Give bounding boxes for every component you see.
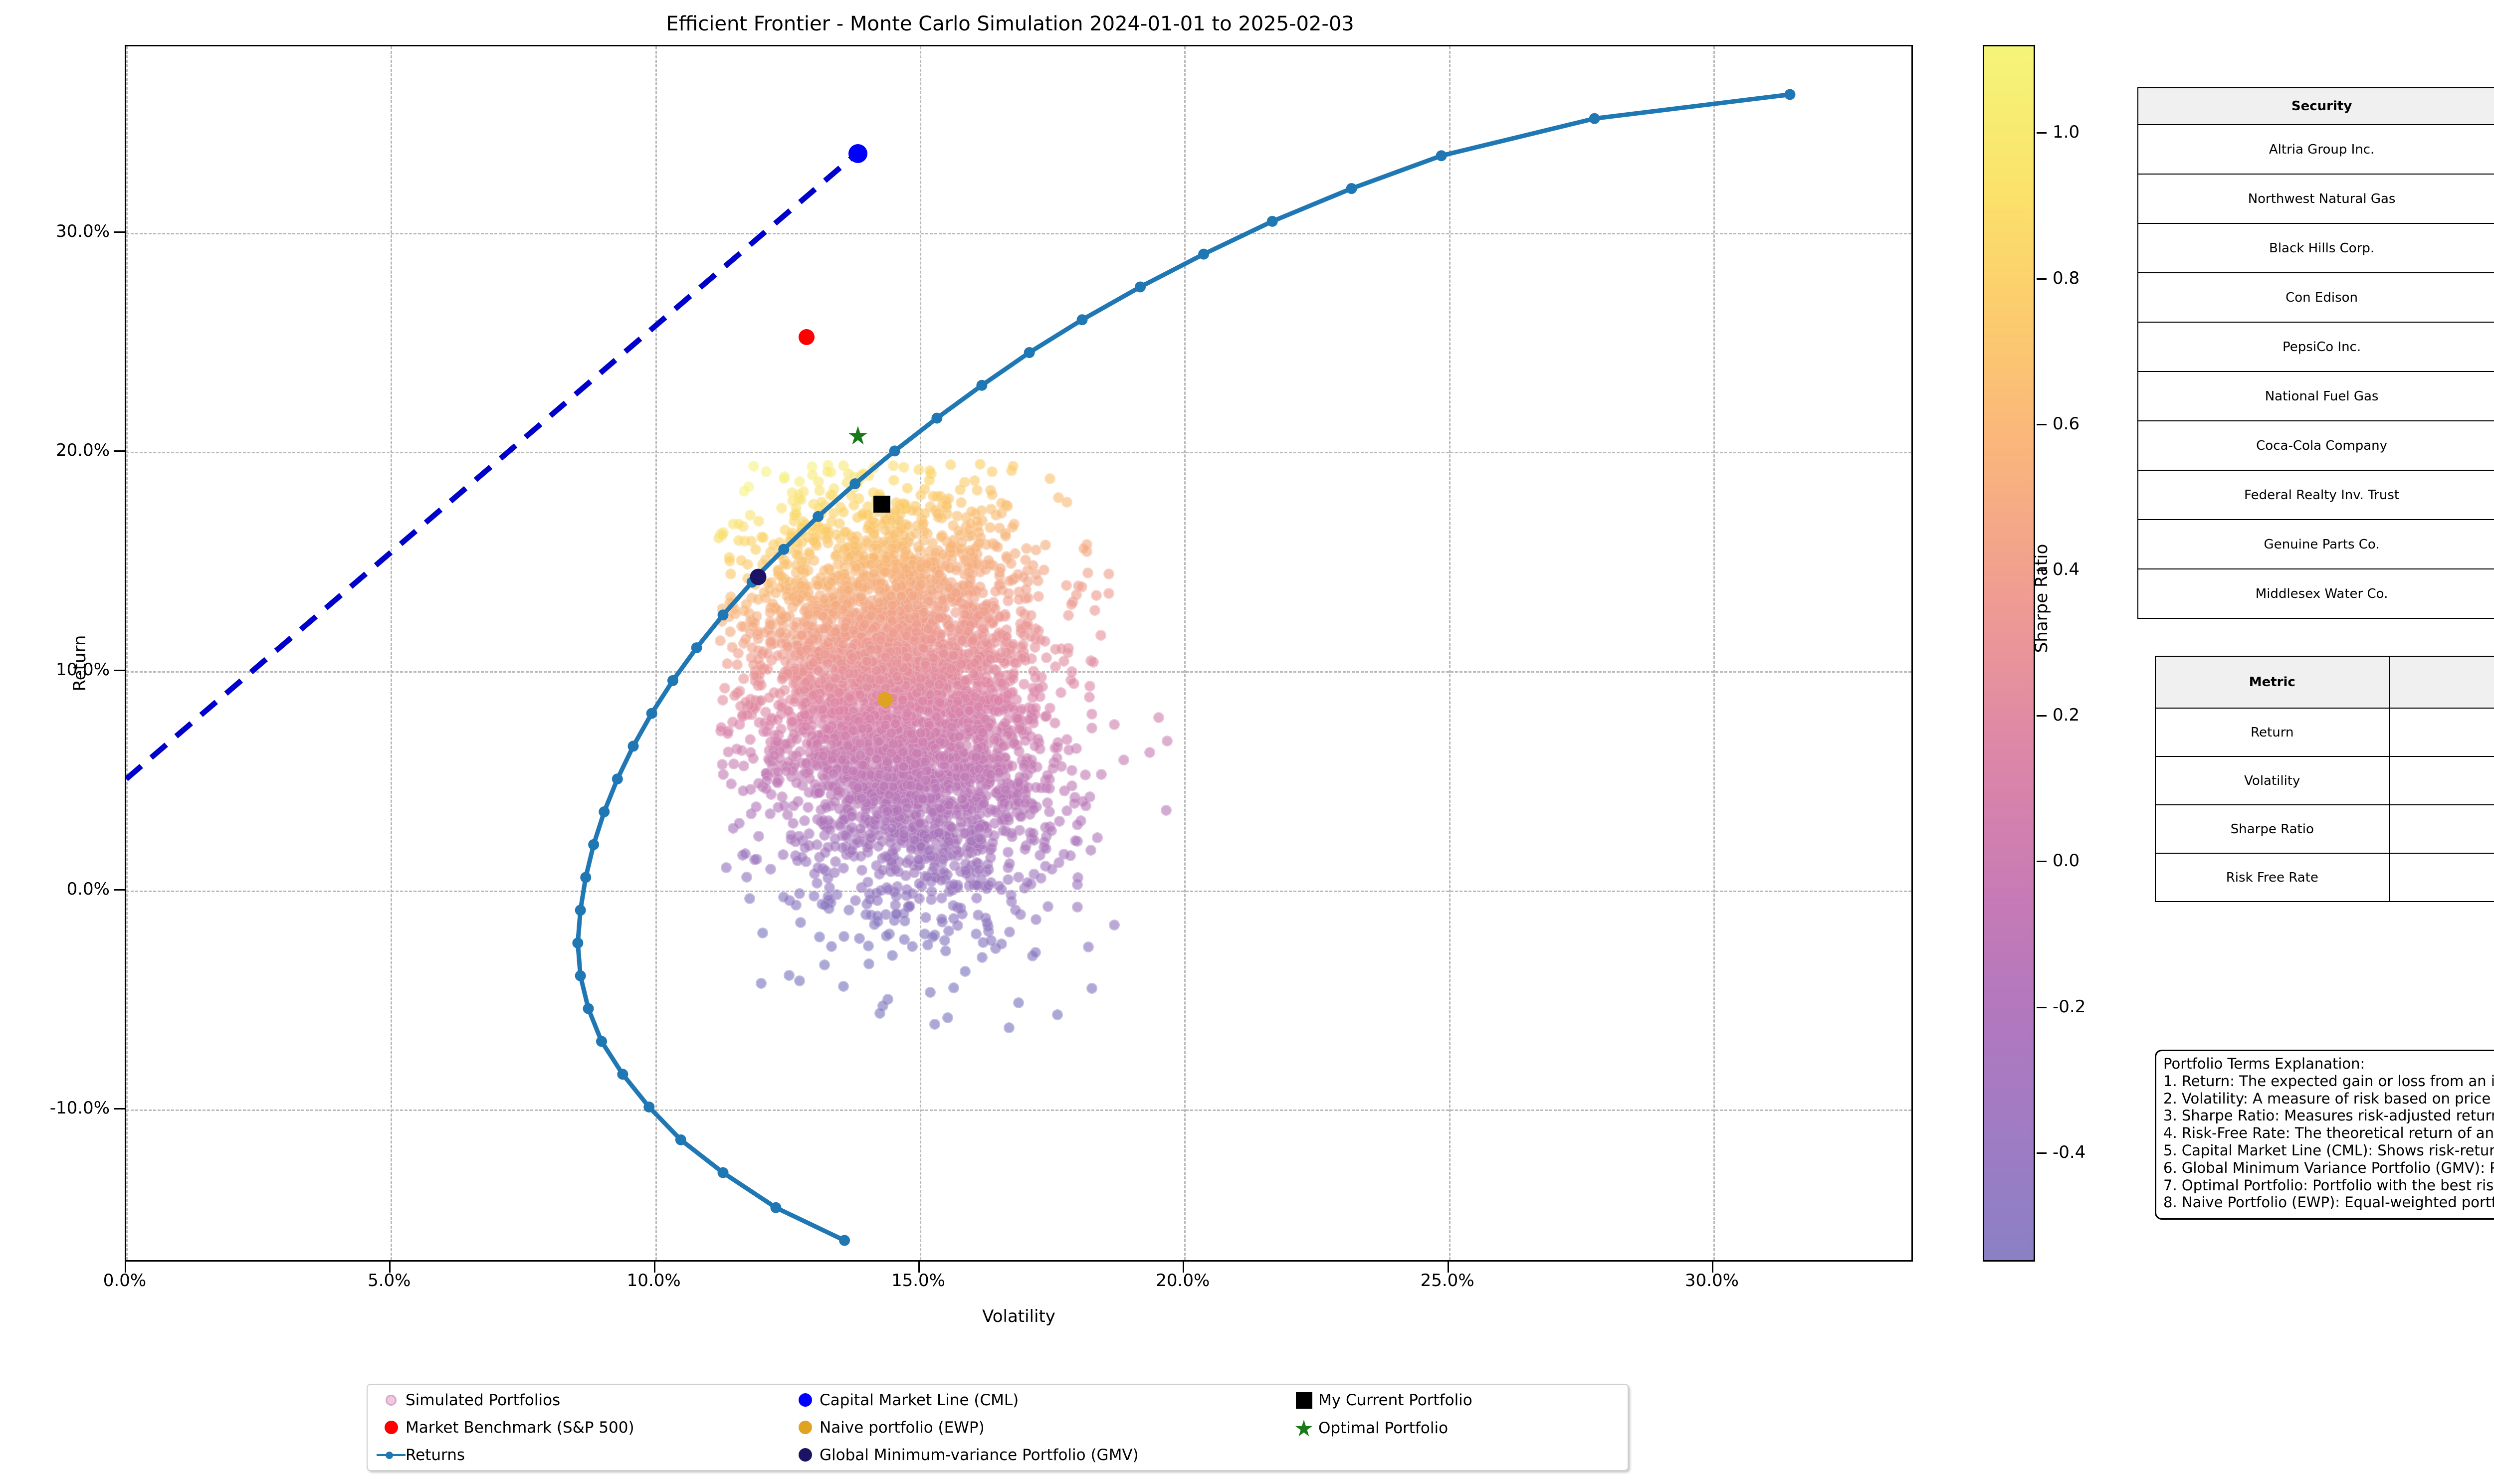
y-axis-tick-mark — [114, 450, 125, 452]
efficient-frontier-point — [1135, 281, 1146, 292]
chart-marker-optimal-portfolio — [848, 425, 868, 447]
terms-line: 3. Sharpe Ratio: Measures risk-adjusted … — [2163, 1107, 2494, 1124]
marker-circle-icon — [878, 692, 893, 707]
efficient-frontier-point — [575, 905, 586, 916]
y-axis-tick-label: 30.0% — [0, 221, 110, 241]
efficient-frontier-point — [667, 675, 678, 686]
portfolio-weights-table-wrap: SecurityCurrentPortfolio WeightsOptimalP… — [2137, 87, 2494, 619]
chart-marker-capital-market-line-cml — [848, 144, 867, 163]
table-column-header: Security — [2138, 88, 2494, 125]
table-row-label: Risk Free Rate — [2155, 853, 2389, 902]
legend-circle-icon — [377, 1395, 406, 1406]
colorbar-tick-mark — [2037, 424, 2047, 425]
efficient-frontier-point — [1024, 347, 1035, 358]
table-column-header: My CurrentPortfolio — [2389, 656, 2494, 708]
legend-square-icon — [1289, 1392, 1318, 1409]
y-axis-tick-label: 10.0% — [0, 660, 110, 680]
terms-line: 7. Optimal Portfolio: Portfolio with the… — [2163, 1177, 2494, 1194]
weights-table-row: Middlesex Water Co.5.00%1.92%9.13%0.00% — [2138, 569, 2494, 618]
efficient-frontier-point — [931, 413, 942, 424]
terms-line: 8. Naive Portfolio (EWP): Equal-weighted… — [2163, 1194, 2494, 1211]
table-row-label: PepsiCo Inc. — [2138, 322, 2494, 371]
legend-item-label: Global Minimum-variance Portfolio (GMV) — [820, 1446, 1139, 1464]
metrics-table-header-row: MetricMy CurrentPortfolioOptimizedOptimi… — [2155, 656, 2494, 708]
y-axis-tick-mark — [114, 670, 125, 671]
legend-item-label: Capital Market Line (CML) — [820, 1391, 1019, 1409]
legend-item[interactable]: Global Minimum-variance Portfolio (GMV) — [791, 1445, 1289, 1465]
efficient-frontier-point — [770, 1202, 781, 1213]
metrics-table-row: Sharpe Ratio0.881.141.57 — [2155, 805, 2494, 853]
efficient-frontier-point — [849, 478, 860, 489]
metrics-table-body: Return17.61%20.72%25.24%Volatility14.28%… — [2155, 708, 2494, 902]
chart-marker-naive-portfolio-ewp — [878, 692, 893, 707]
efficient-frontier-chart-panel: Efficient Frontier - Monte Carlo Simulat… — [0, 0, 1975, 1484]
table-row-label: Coca-Cola Company — [2138, 421, 2494, 470]
plot-area — [125, 45, 1913, 1262]
x-axis-tick-mark — [918, 1262, 920, 1273]
colorbar-tick-mark — [2037, 715, 2047, 717]
table-cell-value: 14.28% — [2389, 756, 2494, 805]
y-axis-tick-mark — [114, 231, 125, 233]
colorbar-title: Sharpe Ratio — [2032, 509, 2052, 688]
marker-square-icon — [873, 496, 890, 513]
terms-line: 4. Risk-Free Rate: The theoretical retur… — [2163, 1124, 2494, 1142]
table-row-label: Northwest Natural Gas — [2138, 174, 2494, 223]
legend-column-2: Capital Market Line (CML)Naive portfolio… — [791, 1390, 1289, 1465]
portfolio-metrics-table: MetricMy CurrentPortfolioOptimizedOptimi… — [2155, 656, 2494, 902]
efficient-frontier-point — [839, 1235, 850, 1246]
legend-item[interactable]: My Current Portfolio — [1289, 1390, 1609, 1411]
weights-table-row: PepsiCo Inc.9.00%6.20%42.81%0.00% — [2138, 322, 2494, 371]
efficient-frontier-point — [1436, 150, 1447, 161]
efficient-frontier-point — [1267, 216, 1278, 227]
chart-marker-my-current-portfolio — [873, 496, 890, 513]
legend-item[interactable]: Simulated Portfolios — [377, 1390, 791, 1410]
x-axis-label: Volatility — [125, 1306, 1913, 1326]
x-axis-tick-label: 30.0% — [1637, 1271, 1787, 1291]
x-axis-tick-label: 20.0% — [1108, 1271, 1257, 1291]
table-row-label: Genuine Parts Co. — [2138, 520, 2494, 569]
x-axis-tick-mark — [1712, 1262, 1713, 1273]
x-axis-tick-mark — [654, 1262, 655, 1273]
sharpe-ratio-colorbar: Sharpe Ratio 1.00.80.60.40.20.0-0.2-0.4 — [1983, 45, 2147, 1262]
legend-item-label: Optimal Portfolio — [1318, 1419, 1448, 1437]
y-axis-tick-mark — [114, 889, 125, 891]
metrics-table-row: Return17.61%20.72%25.24% — [2155, 708, 2494, 756]
efficient-frontier-point — [1589, 113, 1600, 124]
table-column-header: Metric — [2155, 656, 2389, 708]
legend-item-label: Naive portfolio (EWP) — [820, 1419, 985, 1437]
weights-table-row: Coca-Cola Company6.00%5.68%0.00%0.00% — [2138, 421, 2494, 470]
table-row-label: Return — [2155, 708, 2389, 756]
colorbar-tick-mark — [2037, 861, 2047, 862]
x-axis-tick-label: 15.0% — [843, 1271, 993, 1291]
x-axis-tick-label: 25.0% — [1373, 1271, 1522, 1291]
table-cell-value: 0.88 — [2389, 805, 2494, 853]
y-axis-tick-label: 20.0% — [0, 440, 110, 460]
legend-circle-icon — [791, 1421, 820, 1434]
weights-table-row: Genuine Parts Co.16.00%0.28%0.00%0.00% — [2138, 520, 2494, 569]
efficient-frontier-point — [889, 445, 900, 456]
table-row-label: Black Hills Corp. — [2138, 223, 2494, 273]
colorbar-tick-label: -0.2 — [2053, 997, 2085, 1017]
weights-table-row: Black Hills Corp.1.00%8.85%9.31%0.00% — [2138, 223, 2494, 273]
plot-inner — [126, 46, 1911, 1260]
chart-lines-overlay — [126, 46, 1911, 1260]
colorbar-tick-mark — [2037, 132, 2047, 134]
legend-circle-icon — [377, 1421, 406, 1434]
portfolio-weights-table: SecurityCurrentPortfolio WeightsOptimalP… — [2137, 87, 2494, 619]
efficient-frontier-point — [580, 872, 591, 883]
efficient-frontier-point — [718, 1167, 729, 1178]
terms-line: 1. Return: The expected gain or loss fro… — [2163, 1073, 2494, 1090]
legend-item-label: Market Benchmark (S&P 500) — [406, 1419, 634, 1437]
legend-circle-icon — [791, 1393, 820, 1407]
colorbar-tick-label: 0.4 — [2053, 559, 2079, 579]
weights-table-row: Federal Realty Inv. Trust28.00%27.61%13.… — [2138, 470, 2494, 520]
chart-marker-global-minimum-variance-portfolio-gmv — [750, 568, 767, 585]
colorbar-tick-label: 0.2 — [2053, 705, 2079, 725]
efficient-frontier-point — [575, 970, 586, 981]
legend-item-label: Returns — [406, 1446, 465, 1464]
colorbar-tick-label: 0.0 — [2053, 851, 2079, 871]
y-axis-tick-mark — [114, 1108, 125, 1110]
colorbar-tick-label: -0.4 — [2053, 1142, 2085, 1162]
x-axis-tick-mark — [125, 1262, 126, 1273]
legend-item-label: My Current Portfolio — [1318, 1391, 1472, 1409]
legend-line-icon — [377, 1448, 406, 1462]
colorbar-gradient — [1983, 45, 2035, 1262]
colorbar-tick-mark — [2037, 1152, 2047, 1154]
efficient-frontier-point — [976, 380, 987, 391]
weights-table-header-row: SecurityCurrentPortfolio WeightsOptimalP… — [2138, 88, 2494, 125]
colorbar-tick-label: 0.8 — [2053, 268, 2079, 288]
efficient-frontier-point — [1077, 314, 1088, 325]
colorbar-tick-mark — [2037, 1007, 2047, 1008]
x-axis-tick-label: 10.0% — [579, 1271, 729, 1291]
capital-market-line — [126, 154, 856, 779]
legend-star-icon — [1289, 1419, 1318, 1437]
colorbar-tick-label: 1.0 — [2053, 122, 2079, 142]
efficient-frontier-point — [1346, 183, 1357, 194]
terms-heading: Portfolio Terms Explanation: — [2163, 1055, 2494, 1073]
efficient-frontier-point — [643, 1102, 654, 1113]
terms-line: 6. Global Minimum Variance Portfolio (GM… — [2163, 1159, 2494, 1177]
efficient-frontier-point — [588, 839, 599, 850]
table-row-label: Volatility — [2155, 756, 2389, 805]
table-row-label: Federal Realty Inv. Trust — [2138, 470, 2494, 520]
x-axis-tick-mark — [1448, 1262, 1449, 1273]
legend-circle-icon — [791, 1448, 820, 1462]
table-row-label: Altria Group Inc. — [2138, 125, 2494, 174]
weights-table-row: Altria Group Inc.4.00%8.17%0.00%0.00% — [2138, 125, 2494, 174]
colorbar-tick-label: 0.6 — [2053, 414, 2079, 434]
efficient-frontier-point — [718, 609, 729, 620]
x-axis-tick-mark — [1183, 1262, 1184, 1273]
table-row-label: Middlesex Water Co. — [2138, 569, 2494, 618]
x-axis-tick-label: 0.0% — [50, 1271, 200, 1291]
legend-column-3: My Current PortfolioOptimal Portfolio — [1289, 1390, 1609, 1465]
weights-table-row: National Fuel Gas16.00%26.76%18.19%52.36… — [2138, 371, 2494, 421]
efficient-frontier-point — [1784, 89, 1795, 100]
table-row-label: National Fuel Gas — [2138, 371, 2494, 421]
weights-table-row: Con Edison1.00%0.35%5.05%0.00% — [2138, 273, 2494, 322]
efficient-frontier-point — [646, 708, 657, 719]
efficient-frontier-point — [691, 642, 702, 653]
terms-lines: 1. Return: The expected gain or loss fro… — [2163, 1073, 2494, 1211]
table-cell-value: 17.61% — [2389, 708, 2494, 756]
legend-item[interactable]: Naive portfolio (EWP) — [791, 1417, 1289, 1438]
x-axis-tick-label: 5.0% — [314, 1271, 464, 1291]
chart-legend: Simulated PortfoliosMarket Benchmark (S&… — [367, 1384, 1629, 1471]
legend-column-1: Simulated PortfoliosMarket Benchmark (S&… — [377, 1390, 791, 1465]
weights-table-body: Altria Group Inc.4.00%8.17%0.00%0.00%Nor… — [2138, 125, 2494, 618]
efficient-frontier-point — [628, 741, 639, 751]
efficient-frontier-point — [617, 1069, 628, 1080]
terms-line: 5. Capital Market Line (CML): Shows risk… — [2163, 1142, 2494, 1159]
portfolio-terms-explanation-box: Portfolio Terms Explanation: 1. Return: … — [2155, 1050, 2494, 1220]
marker-circle-icon — [799, 329, 815, 345]
colorbar-tick-mark — [2037, 278, 2047, 280]
x-axis-tick-mark — [389, 1262, 391, 1273]
metrics-table-row: Risk Free Rate5.00%5.00%5.00% — [2155, 853, 2494, 902]
marker-circle-icon — [750, 568, 767, 585]
legend-item[interactable]: Returns — [377, 1445, 791, 1465]
marker-circle-icon — [848, 144, 867, 163]
efficient-frontier-point — [675, 1134, 686, 1145]
efficient-frontier-point — [1198, 249, 1209, 260]
y-axis-tick-label: -10.0% — [0, 1098, 110, 1118]
colorbar-tick-mark — [2037, 569, 2047, 571]
right-panel: SecurityCurrentPortfolio WeightsOptimalP… — [2125, 0, 2494, 1484]
legend-item[interactable]: Market Benchmark (S&P 500) — [377, 1417, 791, 1438]
efficient-frontier-point — [599, 806, 610, 817]
chart-marker-market-benchmark-s-p-500 — [799, 329, 815, 345]
table-row-label: Con Edison — [2138, 273, 2494, 322]
metrics-table-row: Volatility14.28%13.83%12.86% — [2155, 756, 2494, 805]
portfolio-metrics-table-wrap: MetricMy CurrentPortfolioOptimizedOptimi… — [2155, 656, 2494, 902]
efficient-frontier-point — [778, 544, 789, 555]
efficient-frontier-line — [578, 94, 1790, 1240]
efficient-frontier-point — [583, 1003, 594, 1014]
terms-line: 2. Volatility: A measure of risk based o… — [2163, 1090, 2494, 1108]
table-row-label: Sharpe Ratio — [2155, 805, 2389, 853]
legend-item[interactable]: Optimal Portfolio — [1289, 1418, 1609, 1439]
efficient-frontier-point — [596, 1036, 607, 1047]
legend-item[interactable]: Capital Market Line (CML) — [791, 1390, 1289, 1410]
weights-table-row: Northwest Natural Gas14.00%14.19%2.32%0.… — [2138, 174, 2494, 223]
efficient-frontier-point — [572, 937, 583, 948]
table-cell-value: 5.00% — [2389, 853, 2494, 902]
efficient-frontier-point — [813, 511, 824, 522]
y-axis-tick-label: 0.0% — [0, 879, 110, 899]
marker-star-icon — [848, 425, 868, 445]
legend-item-label: Simulated Portfolios — [406, 1391, 560, 1409]
chart-title: Efficient Frontier - Monte Carlo Simulat… — [125, 12, 1895, 35]
efficient-frontier-point — [612, 773, 623, 784]
